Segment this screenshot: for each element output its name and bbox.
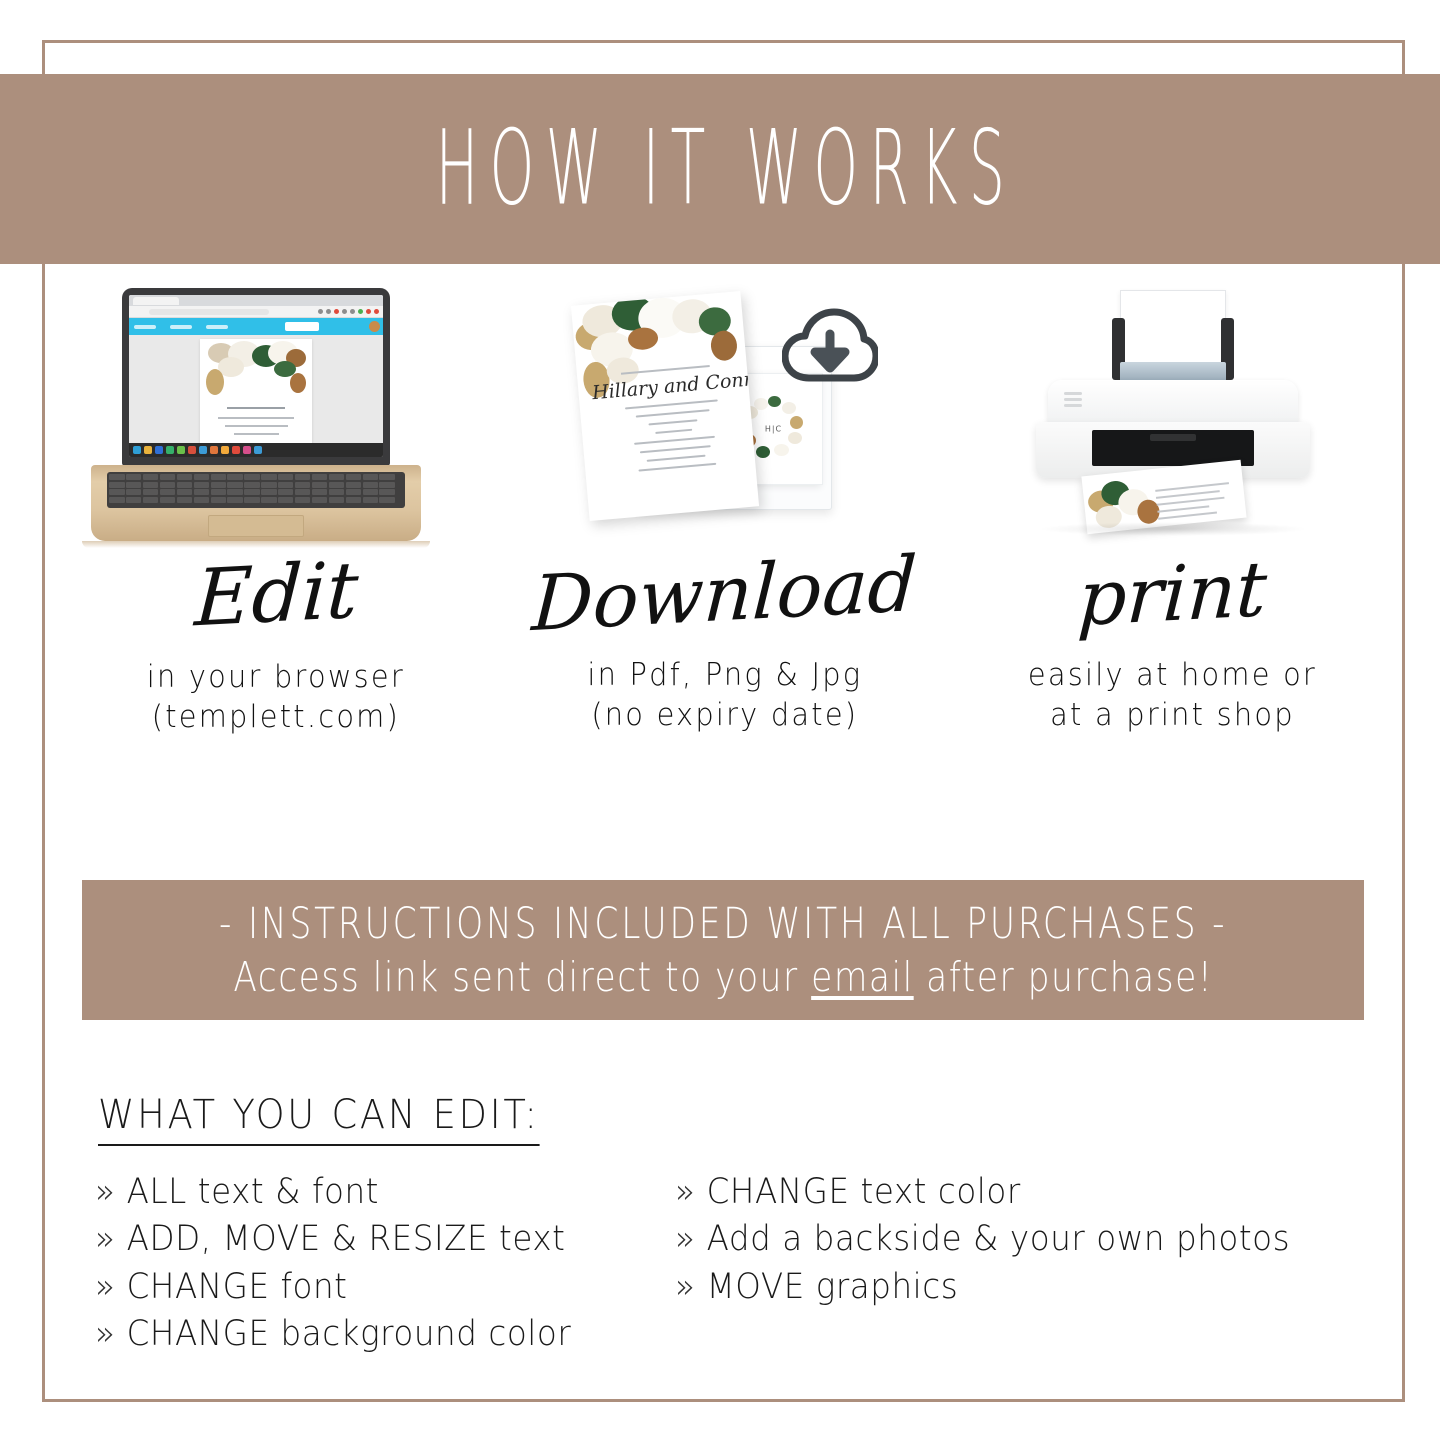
caption-edit-line2: (templett.com): [147, 698, 405, 738]
instructions-headline: - INSTRUCTIONS INCLUDED WITH ALL PURCHAS…: [219, 899, 1227, 949]
macbook: [122, 288, 430, 548]
caption-download-line2: (no expiry date): [587, 696, 862, 736]
feature-column-edit: Edit in your browser (templett.com): [52, 282, 500, 812]
invitation-illustration: H|C: [500, 282, 948, 554]
list-item-label: MOVE graphics: [707, 1267, 959, 1307]
caption-edit-line1: in your browser: [147, 658, 405, 698]
page-title: HOW IT WORKS: [424, 117, 1016, 220]
browser-tab: [133, 297, 179, 305]
toolbar-menu-file: [134, 325, 156, 329]
bullet-icon: »: [95, 1219, 115, 1259]
macbook-lid: [122, 288, 390, 466]
invitation-preview: [200, 339, 312, 457]
list-item: »CHANGE font: [95, 1267, 634, 1308]
list-item-label: CHANGE font: [127, 1267, 348, 1307]
script-label-download: Download: [530, 548, 918, 641]
macbook-trackpad: [208, 515, 304, 537]
macbook-reflection: [82, 541, 430, 548]
editable-features-lists: »ALL text & font »ADD, MOVE & RESIZE tex…: [95, 1172, 1385, 1355]
script-label-edit: Edit: [193, 554, 360, 637]
how-it-works-infographic: HOW IT WORKS: [0, 0, 1445, 1445]
list-item: »Add a backside & your own photos: [675, 1219, 1335, 1260]
invitation-card: Hillary and Connor: [571, 291, 759, 521]
toolbar-menu-edit: [170, 325, 192, 329]
printed-invitation-lines: [1154, 477, 1232, 525]
caption-edit: in your browser (templett.com): [147, 658, 405, 737]
header-band: HOW IT WORKS: [0, 74, 1440, 264]
macbook-screen: [129, 295, 383, 457]
editor-toolbar: [129, 318, 383, 335]
toolbar-download-button: [285, 322, 319, 331]
printer-slot-handle: [1150, 434, 1196, 441]
list-item-label: CHANGE text color: [707, 1172, 1021, 1212]
list-item-label: CHANGE background color: [127, 1314, 572, 1354]
bullet-icon: »: [675, 1219, 695, 1259]
caption-download: in Pdf, Png & Jpg (no expiry date): [587, 656, 862, 735]
invitation-body-lines: [611, 391, 740, 480]
macbook-base: [91, 465, 421, 541]
list-item-label: ALL text & font: [127, 1172, 379, 1212]
toolbar-menu-tools: [206, 325, 228, 329]
avatar: [369, 321, 380, 332]
instructions-banner: - INSTRUCTIONS INCLUDED WITH ALL PURCHAS…: [82, 880, 1364, 1020]
editable-list-left: »ALL text & font »ADD, MOVE & RESIZE tex…: [95, 1172, 675, 1355]
os-taskbar: [129, 443, 383, 457]
list-item: »MOVE graphics: [675, 1267, 1335, 1308]
instructions-subline-after: after purchase!: [913, 953, 1212, 1001]
feature-column-download: H|C: [500, 282, 948, 812]
macbook-keyboard: [107, 472, 405, 508]
printer-shadow: [1038, 522, 1308, 536]
bullet-icon: »: [95, 1267, 115, 1307]
bullet-icon: »: [95, 1172, 115, 1212]
editable-list-right: »CHANGE text color »Add a backside & you…: [675, 1172, 1385, 1355]
bullet-icon: »: [675, 1267, 695, 1307]
caption-print-line1: easily at home or: [1028, 656, 1317, 696]
editor-canvas: [129, 335, 383, 443]
list-item: »ALL text & font: [95, 1172, 634, 1213]
printer-control-buttons: [1064, 392, 1082, 407]
instructions-subline-before: Access link sent direct to your: [233, 953, 811, 1001]
url-input: [149, 309, 269, 315]
browser-urlbar-row: [129, 306, 383, 318]
list-item: »CHANGE background color: [95, 1314, 634, 1355]
browser-extension-icons: [318, 309, 379, 314]
cloud-download-icon: [782, 308, 878, 386]
what-you-can-edit-heading: WHAT YOU CAN EDIT:: [98, 1092, 540, 1146]
list-item: »ADD, MOVE & RESIZE text: [95, 1219, 634, 1260]
caption-print: easily at home or at a print shop: [1028, 656, 1317, 735]
list-item-label: Add a backside & your own photos: [707, 1219, 1291, 1259]
printer-illustration: [949, 282, 1397, 554]
feature-columns: Edit in your browser (templett.com): [52, 282, 1397, 812]
list-item: »CHANGE text color: [675, 1172, 1335, 1213]
instructions-subline: Access link sent direct to your email af…: [233, 953, 1213, 1001]
script-label-print: print: [1077, 553, 1269, 635]
email-link[interactable]: email: [811, 953, 914, 1001]
printer: [1008, 282, 1338, 554]
bullet-icon: »: [95, 1314, 115, 1354]
laptop-illustration: [52, 282, 500, 554]
browser-tabbar: [129, 295, 383, 306]
printer-top-body: [1048, 380, 1298, 426]
caption-print-line2: at a print shop: [1028, 696, 1317, 736]
bullet-icon: »: [675, 1172, 695, 1212]
feature-column-print: print easily at home or at a print shop: [949, 282, 1397, 812]
list-item-label: ADD, MOVE & RESIZE text: [127, 1219, 566, 1259]
caption-download-line1: in Pdf, Png & Jpg: [587, 656, 862, 696]
